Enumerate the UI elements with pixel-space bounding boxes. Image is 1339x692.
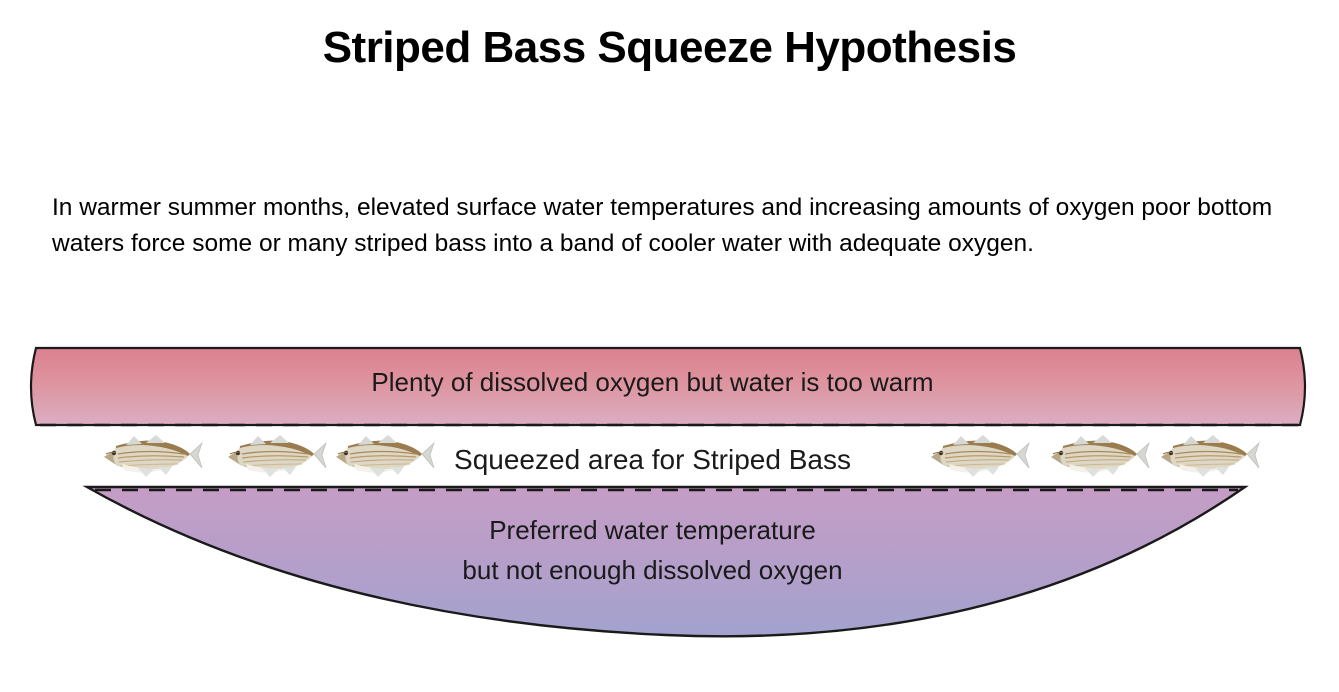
cold-layer-label-line1: Preferred water temperature — [489, 515, 816, 545]
intro-paragraph: In warmer summer months, elevated surfac… — [52, 190, 1297, 262]
cold-layer-label-line2: but not enough dissolved oxygen — [30, 550, 1275, 590]
page-title: Striped Bass Squeeze Hypothesis — [0, 22, 1339, 74]
squeeze-band-label: Squeezed area for Striped Bass — [30, 442, 1275, 478]
squeeze-diagram: Plenty of dissolved oxygen but water is … — [0, 330, 1339, 660]
warm-layer-label: Plenty of dissolved oxygen but water is … — [30, 365, 1275, 399]
cold-layer-label: Preferred water temperature but not enou… — [30, 510, 1275, 590]
